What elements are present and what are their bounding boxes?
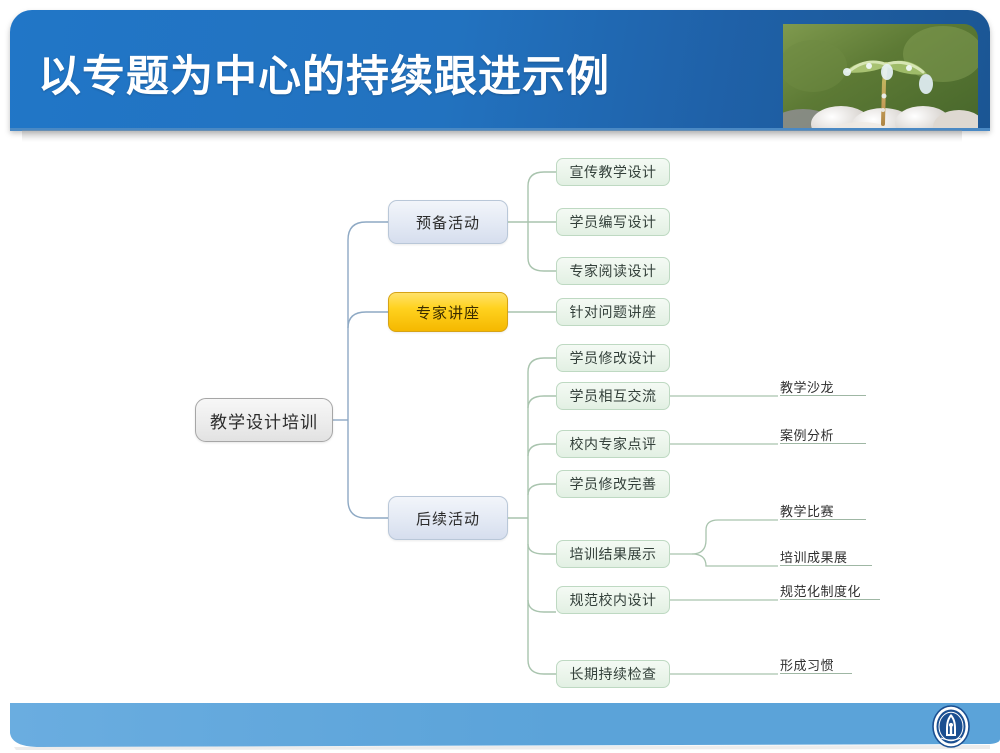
mindmap-leaf-node[interactable]: 学员修改完善 — [556, 470, 670, 498]
mindmap-leaf-label: 学员编写设计 — [570, 212, 657, 232]
mindmap-branch-label: 专家讲座 — [416, 302, 480, 323]
mindmap-leaf-label: 校内专家点评 — [570, 434, 657, 454]
mindmap-subleaf-node[interactable]: 案例分析 — [780, 426, 866, 444]
mindmap-subleaf-label: 教学沙龙 — [780, 377, 834, 396]
mindmap-leaf-node[interactable]: 针对问题讲座 — [556, 298, 670, 326]
slide-footer-band — [0, 703, 1000, 750]
mindmap-leaf-label: 学员相互交流 — [570, 386, 657, 406]
mindmap-leaf-label: 专家阅读设计 — [570, 261, 657, 281]
mindmap-leaf-node[interactable]: 校内专家点评 — [556, 430, 670, 458]
mindmap-subleaf-label: 形成习惯 — [780, 655, 834, 674]
mindmap-subleaf-node[interactable]: 教学沙龙 — [780, 378, 866, 396]
mindmap-subleaf-label: 案例分析 — [780, 425, 834, 444]
mindmap-leaf-label: 培训结果展示 — [570, 544, 657, 564]
mindmap-leaf-label: 宣传教学设计 — [570, 162, 657, 182]
mindmap-leaf-label: 规范校内设计 — [570, 590, 657, 610]
mindmap-leaf-node[interactable]: 学员编写设计 — [556, 208, 670, 236]
mindmap-branch-followup[interactable]: 后续活动 — [388, 496, 508, 540]
mindmap-diagram: 教学设计培训 预备活动 专家讲座 后续活动 宣传教学设计 学员编写设计 专家阅读… — [0, 140, 1000, 700]
mindmap-leaf-label: 学员修改设计 — [570, 348, 657, 368]
mindmap-leaf-node[interactable]: 宣传教学设计 — [556, 158, 670, 186]
mindmap-branch-preparation[interactable]: 预备活动 — [388, 200, 508, 244]
mindmap-leaf-node[interactable]: 学员修改设计 — [556, 344, 670, 372]
slide-title-banner: 以专题为中心的持续跟进示例 — [10, 10, 990, 130]
page-title: 以专题为中心的持续跟进示例 — [38, 42, 610, 104]
mindmap-leaf-label: 针对问题讲座 — [570, 302, 657, 322]
mindmap-branch-expert-lecture[interactable]: 专家讲座 — [388, 292, 508, 332]
mindmap-root-label: 教学设计培训 — [210, 408, 318, 433]
mindmap-leaf-label: 长期持续检查 — [570, 664, 657, 684]
mindmap-leaf-label: 学员修改完善 — [570, 474, 657, 494]
mindmap-leaf-node[interactable]: 培训结果展示 — [556, 540, 670, 568]
mindmap-branch-label: 后续活动 — [416, 508, 480, 529]
mindmap-leaf-node[interactable]: 长期持续检查 — [556, 660, 670, 688]
mindmap-subleaf-node[interactable]: 规范化制度化 — [780, 582, 880, 600]
seedling-dewdrop-photo — [783, 24, 978, 130]
mindmap-leaf-node[interactable]: 学员相互交流 — [556, 382, 670, 410]
mindmap-branch-label: 预备活动 — [416, 212, 480, 233]
mindmap-leaf-node[interactable]: 规范校内设计 — [556, 586, 670, 614]
mindmap-root-node[interactable]: 教学设计培训 — [195, 398, 333, 442]
university-seal-logo — [931, 705, 971, 748]
mindmap-subleaf-label: 规范化制度化 — [780, 581, 861, 600]
mindmap-subleaf-label: 培训成果展 — [780, 547, 848, 566]
mindmap-leaf-node[interactable]: 专家阅读设计 — [556, 257, 670, 285]
mindmap-subleaf-node[interactable]: 培训成果展 — [780, 548, 872, 566]
mindmap-subleaf-label: 教学比赛 — [780, 501, 834, 520]
mindmap-subleaf-node[interactable]: 形成习惯 — [780, 656, 852, 674]
mindmap-subleaf-node[interactable]: 教学比赛 — [780, 502, 866, 520]
